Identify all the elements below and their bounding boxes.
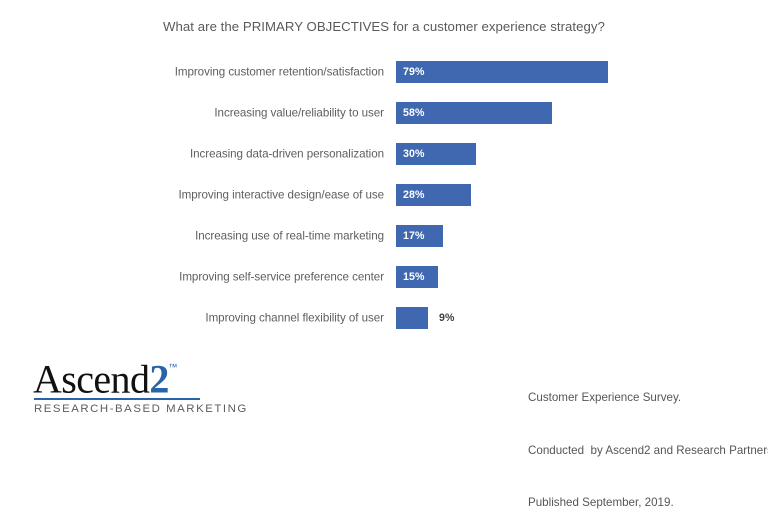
category-label: Increasing value/reliability to user <box>214 107 384 120</box>
bar-container: 79% <box>396 61 608 83</box>
ascend2-logo: Ascend2™ RESEARCH-BASED MARKETING <box>33 355 213 415</box>
logo-tagline: RESEARCH-BASED MARKETING <box>34 403 213 415</box>
bar-row: Improving channel flexibility of user 9% <box>0 306 768 330</box>
logo-name-text: Ascend <box>33 356 149 401</box>
category-label: Improving interactive design/ease of use <box>178 189 384 202</box>
logo-wordmark: Ascend2™ <box>33 355 213 399</box>
bar-container: 9% <box>396 307 455 329</box>
category-label: Improving self-service preference center <box>179 271 384 284</box>
bar-value-label: 17% <box>396 230 425 242</box>
category-label: Increasing use of real-time marketing <box>195 230 384 243</box>
bar-value-label: 58% <box>396 107 425 119</box>
category-label: Improving channel flexibility of user <box>205 312 384 325</box>
bar[interactable]: 30% <box>396 143 476 165</box>
bar-value-label: 9% <box>439 312 455 324</box>
bar[interactable] <box>396 307 428 329</box>
source-note-line-1: Customer Experience Survey. <box>528 389 768 407</box>
bar-value-label: 15% <box>396 271 425 283</box>
bar-row: Increasing value/reliability to user 58% <box>0 101 768 125</box>
bar[interactable]: 17% <box>396 225 443 247</box>
bar-row: Increasing use of real-time marketing 17… <box>0 224 768 248</box>
bar-chart: Improving customer retention/satisfactio… <box>0 60 768 348</box>
bar[interactable]: 28% <box>396 184 471 206</box>
bar-value-label: 30% <box>396 148 425 160</box>
bar[interactable]: 58% <box>396 102 552 124</box>
bar-row: Improving interactive design/ease of use… <box>0 183 768 207</box>
bar-value-label: 28% <box>396 189 425 201</box>
page-title: What are the PRIMARY OBJECTIVES for a cu… <box>0 19 768 34</box>
bar-container: 30% <box>396 143 476 165</box>
bar-row: Increasing data-driven personalization 3… <box>0 142 768 166</box>
category-label: Improving customer retention/satisfactio… <box>175 66 384 79</box>
trademark-icon: ™ <box>168 362 177 372</box>
logo-accent-numeral: 2 <box>149 356 168 401</box>
bar-container: 15% <box>396 266 438 288</box>
bar-container: 58% <box>396 102 552 124</box>
bar-value-label: 79% <box>396 66 425 78</box>
bar-row: Improving customer retention/satisfactio… <box>0 60 768 84</box>
bar-container: 17% <box>396 225 443 247</box>
source-note-line-2: Conducted by Ascend2 and Research Partne… <box>528 442 768 460</box>
category-label: Increasing data-driven personalization <box>190 148 384 161</box>
source-note: Customer Experience Survey. Conducted by… <box>528 354 768 529</box>
source-note-line-3: Published September, 2019. <box>528 494 768 512</box>
bar-container: 28% <box>396 184 471 206</box>
bar[interactable]: 79% <box>396 61 608 83</box>
bar[interactable]: 15% <box>396 266 438 288</box>
bar-row: Improving self-service preference center… <box>0 265 768 289</box>
